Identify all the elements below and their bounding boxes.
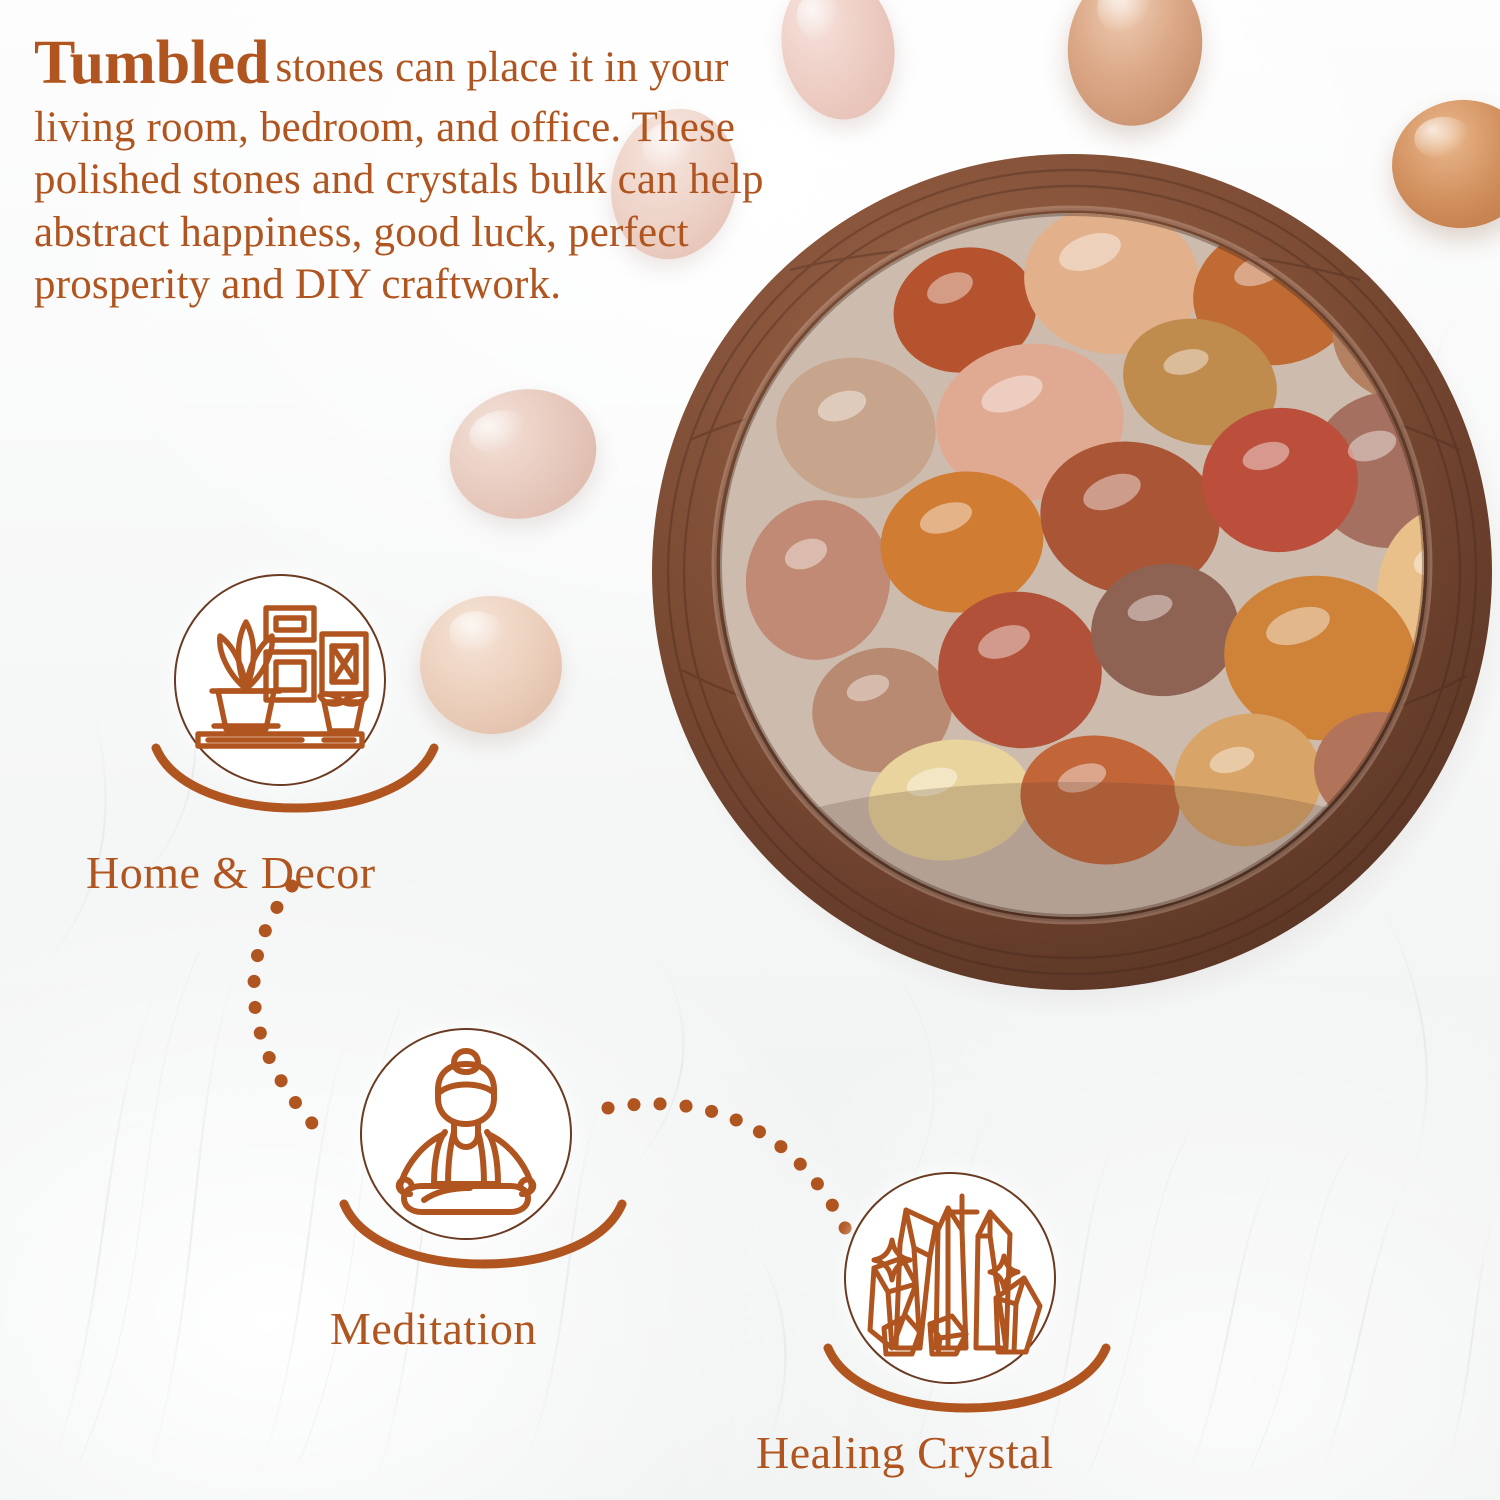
lotus-figure-icon — [360, 1028, 572, 1240]
headline-lead-word: Tumbled — [34, 29, 276, 97]
loose-stone — [434, 372, 612, 536]
loose-stone — [413, 589, 569, 741]
promo-image: Tumbledstones can place it in your livin… — [0, 0, 1500, 1500]
badge-label-healing-crystal: Healing Crystal — [756, 1426, 1054, 1479]
badge-meditation[interactable] — [360, 1028, 572, 1240]
headline-block: Tumbledstones can place it in your livin… — [34, 26, 824, 311]
shelf-decor-icon — [174, 574, 386, 786]
badge-label-home-decor: Home & Decor — [86, 846, 376, 899]
headline-paragraph: Tumbledstones can place it in your livin… — [34, 26, 824, 311]
badge-home-decor[interactable] — [174, 574, 386, 786]
crystal-cluster-icon — [844, 1172, 1056, 1384]
badge-label-meditation: Meditation — [330, 1302, 537, 1355]
badge-healing-crystal[interactable] — [844, 1172, 1056, 1384]
